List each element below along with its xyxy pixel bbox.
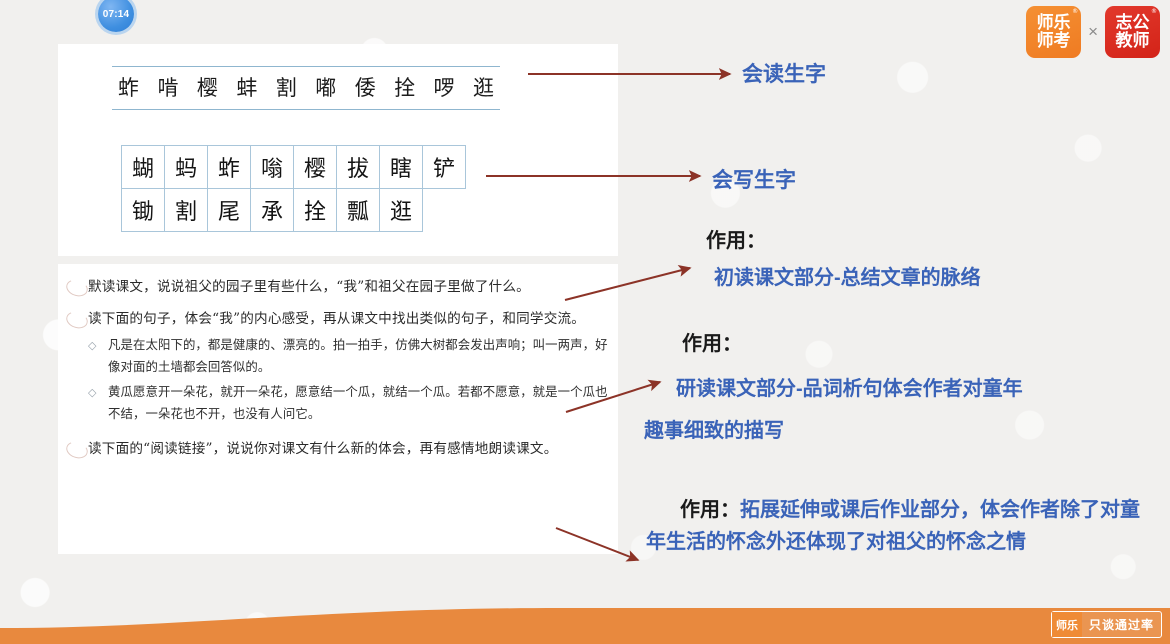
write-cell: 割 xyxy=(164,188,208,232)
write-cell: 瓢 xyxy=(336,188,380,232)
example-sentence: 黄瓜愿意开一朵花，就开一朵花，愿意结一个瓜，就结一个瓜。若都不愿意，就是一个瓜也… xyxy=(108,381,616,425)
logo-separator-x: × xyxy=(1088,22,1098,42)
read-char: 啰 xyxy=(434,78,455,99)
write-cell: 尾 xyxy=(207,188,251,232)
logo-shile-shikao: ® 师乐 师考 xyxy=(1026,6,1081,58)
write-cell: 承 xyxy=(250,188,294,232)
refresh-circle-icon xyxy=(64,439,90,461)
read-char: 拴 xyxy=(394,78,415,99)
list-item: 读下面的句子，体会“我”的内心感受，再从课文中找出类似的句子，和同学交流。 ◇ … xyxy=(60,308,616,429)
write-cell: 蚂 xyxy=(164,145,208,189)
list-item: ◇ 黄瓜愿意开一朵花，就开一朵花，愿意结一个瓜，就结一个瓜。若都不愿意，就是一个… xyxy=(88,381,616,425)
question-list: 默读课文，说说祖父的园子里有些什么，“我”和祖父在园子里做了什么。 读下面的句子… xyxy=(60,276,616,470)
example-sentence-list: ◇ 凡是在太阳下的，都是健康的、漂亮的。拍一拍手，仿佛大树都会发出声响；叫一两声… xyxy=(88,334,616,425)
write-grid-row: 蝴 蚂 蚱 嗡 樱 拔 瞎 铲 xyxy=(122,146,466,189)
write-cell: 逛 xyxy=(379,188,423,232)
question-text: 读下面的句子，体会“我”的内心感受，再从课文中找出类似的句子，和同学交流。 xyxy=(88,308,616,331)
read-char: 倭 xyxy=(355,78,376,99)
annotation-role-text-2-line1: 研读课文部分-品词析句体会作者对童年 xyxy=(676,372,1023,401)
read-char: 啃 xyxy=(157,78,178,99)
banner-curve xyxy=(0,604,1170,644)
read-char: 逛 xyxy=(473,78,494,99)
write-cell: 拴 xyxy=(293,188,337,232)
logo-right-line1: 志公 xyxy=(1116,14,1150,32)
logo-right-line2: 教师 xyxy=(1116,32,1150,50)
timer-value: 07:14 xyxy=(103,9,130,20)
refresh-circle-icon xyxy=(64,309,90,331)
annotation-role-label-1: 作用： xyxy=(706,224,766,253)
read-characters-row: 蚱 啃 樱 蚌 割 嘟 倭 拴 啰 逛 xyxy=(112,66,500,110)
write-cell: 樱 xyxy=(293,145,337,189)
registered-mark-icon: ® xyxy=(1151,9,1157,15)
banner-badge-text: 只谈通过率 xyxy=(1082,612,1161,637)
logo-left-line2: 师考 xyxy=(1037,32,1071,50)
banner-badge: 师乐 只谈通过率 xyxy=(1051,611,1162,638)
write-cell: 锄 xyxy=(121,188,165,232)
example-sentence: 凡是在太阳下的，都是健康的、漂亮的。拍一拍手，仿佛大树都会发出声响；叫一两声，好… xyxy=(108,334,616,378)
read-char: 蚌 xyxy=(236,78,257,99)
diamond-bullet-icon: ◇ xyxy=(88,339,108,378)
write-cell: 铲 xyxy=(422,145,466,189)
list-item: 默读课文，说说祖父的园子里有些什么，“我”和祖父在园子里做了什么。 xyxy=(60,276,616,299)
annotation-read-label: 会读生字 xyxy=(742,58,826,88)
brand-logo: ® 师乐 师考 × ® 志公 教师 xyxy=(1026,6,1160,58)
diamond-bullet-icon: ◇ xyxy=(88,386,108,425)
write-cell: 蝴 xyxy=(121,145,165,189)
list-item: ◇ 凡是在太阳下的，都是健康的、漂亮的。拍一拍手，仿佛大树都会发出声响；叫一两声… xyxy=(88,334,616,378)
write-cell: 拔 xyxy=(336,145,380,189)
annotation-role-text-2-line2: 趣事细致的描写 xyxy=(644,414,784,443)
banner-badge-mark: 师乐 xyxy=(1052,612,1082,637)
write-cell: 瞎 xyxy=(379,145,423,189)
logo-zhigong-jiaoshi: ® 志公 教师 xyxy=(1105,6,1160,58)
bottom-banner: 师乐 只谈通过率 xyxy=(0,604,1170,644)
write-cell: 蚱 xyxy=(207,145,251,189)
write-grid-row: 锄 割 尾 承 拴 瓢 逛 xyxy=(122,189,466,232)
registered-mark-icon: ® xyxy=(1072,9,1078,15)
write-cell: 嗡 xyxy=(250,145,294,189)
read-char: 蚱 xyxy=(118,78,139,99)
annotation-write-label: 会写生字 xyxy=(712,164,796,194)
question-text: 默读课文，说说祖父的园子里有些什么，“我”和祖父在园子里做了什么。 xyxy=(88,276,616,299)
annotation-role-text-1: 初读课文部分-总结文章的脉络 xyxy=(714,261,981,290)
write-characters-grid: 蝴 蚂 蚱 嗡 樱 拔 瞎 铲 锄 割 尾 承 拴 瓢 逛 xyxy=(122,146,466,232)
annotation-role-block-3: 作用：拓展延伸或课后作业部分，体会作者除了对童年生活的怀念外还体现了对祖父的怀念… xyxy=(646,494,1146,559)
annotation-role-label-3: 作用： xyxy=(680,499,740,521)
refresh-circle-icon xyxy=(64,277,90,299)
list-item: 读下面的“阅读链接”，说说你对课文有什么新的体会，再有感情地朗读课文。 xyxy=(60,438,616,461)
question-text: 读下面的“阅读链接”，说说你对课文有什么新的体会，再有感情地朗读课文。 xyxy=(88,438,616,461)
read-char: 樱 xyxy=(197,78,218,99)
annotation-role-label-2: 作用： xyxy=(682,327,742,356)
read-char: 割 xyxy=(276,78,297,99)
logo-left-line1: 师乐 xyxy=(1037,14,1071,32)
read-char: 嘟 xyxy=(315,78,336,99)
